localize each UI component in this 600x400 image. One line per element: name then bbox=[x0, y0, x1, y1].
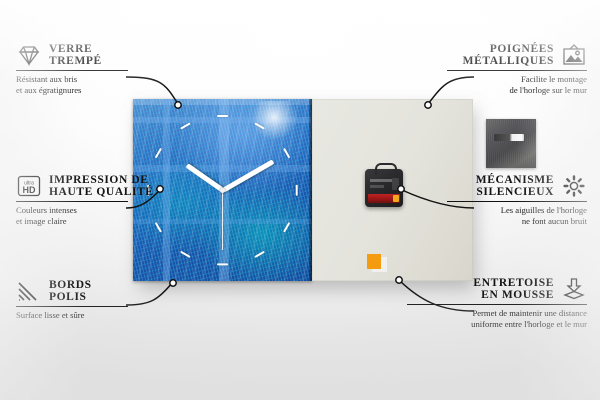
clock-tick bbox=[254, 122, 265, 130]
foam-spacer-arrow-icon bbox=[561, 277, 587, 301]
quartz-movement bbox=[365, 169, 403, 207]
feature-title-line2: HAUTE QUALITÉ bbox=[49, 186, 154, 198]
feature-title-line2: MÉTALLIQUES bbox=[463, 55, 554, 67]
feature-title-line1: ENTRETOISE bbox=[473, 277, 554, 289]
feature-subtitle: Couleurs intenses et image claire bbox=[16, 205, 128, 228]
feature-rule bbox=[16, 70, 128, 71]
feature-sub-line1: Surface lisse et sûre bbox=[16, 310, 128, 321]
hanger-slot bbox=[494, 134, 524, 141]
feature-subtitle: Les aiguilles de l'horloge ne font aucun… bbox=[447, 205, 587, 228]
clock-tick bbox=[155, 148, 163, 159]
clock-tick bbox=[217, 263, 228, 265]
feature-mecanisme-silencieux: MÉCANISME SILENCIEUX Les aiguilles de l'… bbox=[447, 174, 587, 228]
feature-titles: MÉCANISME SILENCIEUX bbox=[476, 174, 554, 198]
feature-titles: BORDS POLIS bbox=[49, 279, 92, 303]
clock-minute-hand bbox=[221, 159, 274, 192]
feature-rule bbox=[447, 201, 587, 202]
feature-titles: VERRE TREMPÉ bbox=[49, 43, 102, 67]
framed-picture-hook-icon bbox=[561, 43, 587, 67]
foam-spacer bbox=[372, 257, 387, 272]
feature-subtitle: Surface lisse et sûre bbox=[16, 310, 128, 321]
clock-front-panel bbox=[133, 99, 312, 281]
gear-icon bbox=[561, 174, 587, 198]
clock-hour-hand bbox=[185, 163, 224, 192]
feature-title-line2: SILENCIEUX bbox=[476, 186, 554, 198]
feature-bords-polis: BORDS POLIS Surface lisse et sûre bbox=[16, 279, 128, 321]
diamond-icon bbox=[16, 43, 42, 67]
feature-sub-line2: et aux égratignures bbox=[16, 85, 128, 96]
feature-sub-line1: Couleurs intenses bbox=[16, 205, 128, 216]
feature-title-line1: POIGNÉES bbox=[463, 43, 554, 55]
feature-title-line2: EN MOUSSE bbox=[473, 289, 554, 301]
movement-label bbox=[370, 179, 392, 182]
feature-rule bbox=[407, 304, 587, 305]
feature-titles: POIGNÉES MÉTALLIQUES bbox=[463, 43, 554, 67]
feature-title-line1: BORDS bbox=[49, 279, 92, 291]
clock-dial bbox=[133, 99, 312, 281]
clock-center-cap bbox=[220, 188, 225, 193]
polished-edges-icon bbox=[16, 279, 42, 303]
feature-sub-line1: Les aiguilles de l'horloge bbox=[447, 205, 587, 216]
feature-title-line1: VERRE bbox=[49, 43, 102, 55]
feature-entretoise-en-mousse: ENTRETOISE EN MOUSSE Permet de maintenir… bbox=[407, 277, 587, 331]
feature-sub-line1: Résistant aux bris bbox=[16, 74, 128, 85]
feature-titles: ENTRETOISE EN MOUSSE bbox=[473, 277, 554, 301]
feature-sub-line2: uniforme entre l'horloge et le mur bbox=[407, 319, 587, 330]
movement-chip bbox=[392, 178, 399, 190]
feature-heading: MÉCANISME SILENCIEUX bbox=[447, 174, 587, 198]
feature-heading: ENTRETOISE EN MOUSSE bbox=[407, 277, 587, 301]
feature-sub-line2: ne font aucun bruit bbox=[447, 216, 587, 227]
clock-second-hand bbox=[222, 190, 224, 250]
feature-sub-line1: Permet de maintenir une distance bbox=[407, 308, 587, 319]
svg-text:HD: HD bbox=[23, 185, 36, 195]
feature-heading: BORDS POLIS bbox=[16, 279, 128, 303]
movement-label-2 bbox=[370, 185, 384, 188]
feature-poignees-metalliques: POIGNÉES MÉTALLIQUES Facilite le montage… bbox=[447, 43, 587, 97]
clock-tick bbox=[283, 148, 291, 159]
feature-rule bbox=[16, 306, 128, 307]
feature-heading: POIGNÉES MÉTALLIQUES bbox=[447, 43, 587, 67]
feature-sub-line2: de l'horloge sur le mur bbox=[447, 85, 587, 96]
ultra-hd-icon: ultra HD bbox=[16, 174, 42, 198]
clock-tick bbox=[180, 250, 191, 258]
feature-subtitle: Résistant aux bris et aux égratignures bbox=[16, 74, 128, 97]
feature-titles: IMPRESSION DE HAUTE QUALITÉ bbox=[49, 174, 154, 198]
feature-rule bbox=[16, 201, 128, 202]
feature-subtitle: Facilite le montage de l'horloge sur le … bbox=[447, 74, 587, 97]
feature-title-line1: MÉCANISME bbox=[476, 174, 554, 186]
clock-tick bbox=[155, 222, 163, 233]
infographic-canvas: VERRE TREMPÉ Résistant aux bris et aux é… bbox=[0, 0, 600, 400]
feature-heading: VERRE TREMPÉ bbox=[16, 43, 128, 67]
battery bbox=[368, 194, 400, 203]
feature-title-line2: POLIS bbox=[49, 291, 92, 303]
product-image bbox=[133, 99, 473, 281]
feature-subtitle: Permet de maintenir une distance uniform… bbox=[407, 308, 587, 331]
clock-tick bbox=[180, 122, 191, 130]
metal-hanger-bracket bbox=[486, 119, 536, 168]
feature-sub-line1: Facilite le montage bbox=[447, 74, 587, 85]
movement-hook bbox=[375, 163, 397, 175]
feature-title-line2: TREMPÉ bbox=[49, 55, 102, 67]
feature-heading: ultra HD IMPRESSION DE HAUTE QUALITÉ bbox=[16, 174, 128, 198]
clock-tick bbox=[254, 250, 265, 258]
clock-tick bbox=[295, 184, 297, 195]
feature-title-line1: IMPRESSION DE bbox=[49, 174, 154, 186]
feature-verre-trempe: VERRE TREMPÉ Résistant aux bris et aux é… bbox=[16, 43, 128, 97]
feature-rule bbox=[447, 70, 587, 71]
feature-impression-haute-qualite: ultra HD IMPRESSION DE HAUTE QUALITÉ Cou… bbox=[16, 174, 128, 228]
feature-sub-line2: et image claire bbox=[16, 216, 128, 227]
clock-tick bbox=[217, 115, 228, 117]
clock-tick bbox=[283, 222, 291, 233]
hanger-grain bbox=[486, 119, 536, 168]
